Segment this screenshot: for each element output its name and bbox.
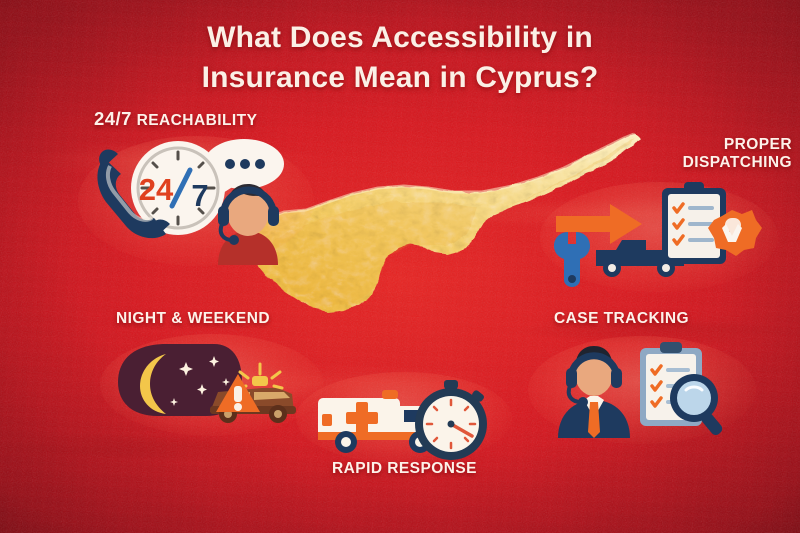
arrow-right-icon [556, 204, 642, 244]
label-reachability: REACHABILITY [137, 112, 258, 129]
page-title: What Does Accessibility in Insurance Mea… [0, 18, 800, 97]
rapid-response-artwork [312, 376, 496, 460]
feature-card-dispatching: PROPER DISPATCHING [524, 136, 800, 294]
title-line-1: What Does Accessibility in [207, 21, 593, 54]
card-label-reachability: 24/7 REACHABILITY [94, 108, 257, 130]
beacon-light-icon [238, 364, 282, 388]
card-label-dispatching: PROPER DISPATCHING [592, 136, 792, 173]
case-tracking-artwork [548, 336, 738, 438]
headset-agent-icon [218, 184, 279, 265]
headset-agent-icon [558, 346, 630, 438]
night-weekend-artwork [114, 336, 310, 430]
infographic-canvas: What Does Accessibility in Insurance Mea… [0, 0, 800, 533]
feature-card-case-tracking: CASE TRACKING [528, 310, 764, 454]
dispatching-artwork [550, 180, 762, 288]
card-label-case-tracking: CASE TRACKING [554, 310, 689, 328]
reachability-artwork: 24 7 [92, 130, 307, 265]
card-label-night-weekend: NIGHT & WEEKEND [116, 310, 270, 328]
title-line-2: Insurance Mean in Cyprus? [0, 58, 800, 98]
stopwatch-icon [415, 380, 487, 460]
magnifier-icon [670, 374, 724, 437]
label-dispatching-line-2: DISPATCHING [592, 154, 792, 172]
svg-text:7: 7 [191, 178, 208, 213]
svg-text:24: 24 [139, 172, 174, 207]
card-label-rapid-response: RAPID RESPONSE [332, 460, 477, 478]
feature-card-rapid-response: RAPID RESPONSE [296, 372, 520, 484]
label-dispatching-line-1: PROPER [592, 136, 792, 154]
wrench-icon [554, 232, 590, 287]
feature-card-reachability: 24/7 REACHABILITY [78, 108, 318, 268]
label-prefix-247: 24/7 [94, 108, 132, 129]
